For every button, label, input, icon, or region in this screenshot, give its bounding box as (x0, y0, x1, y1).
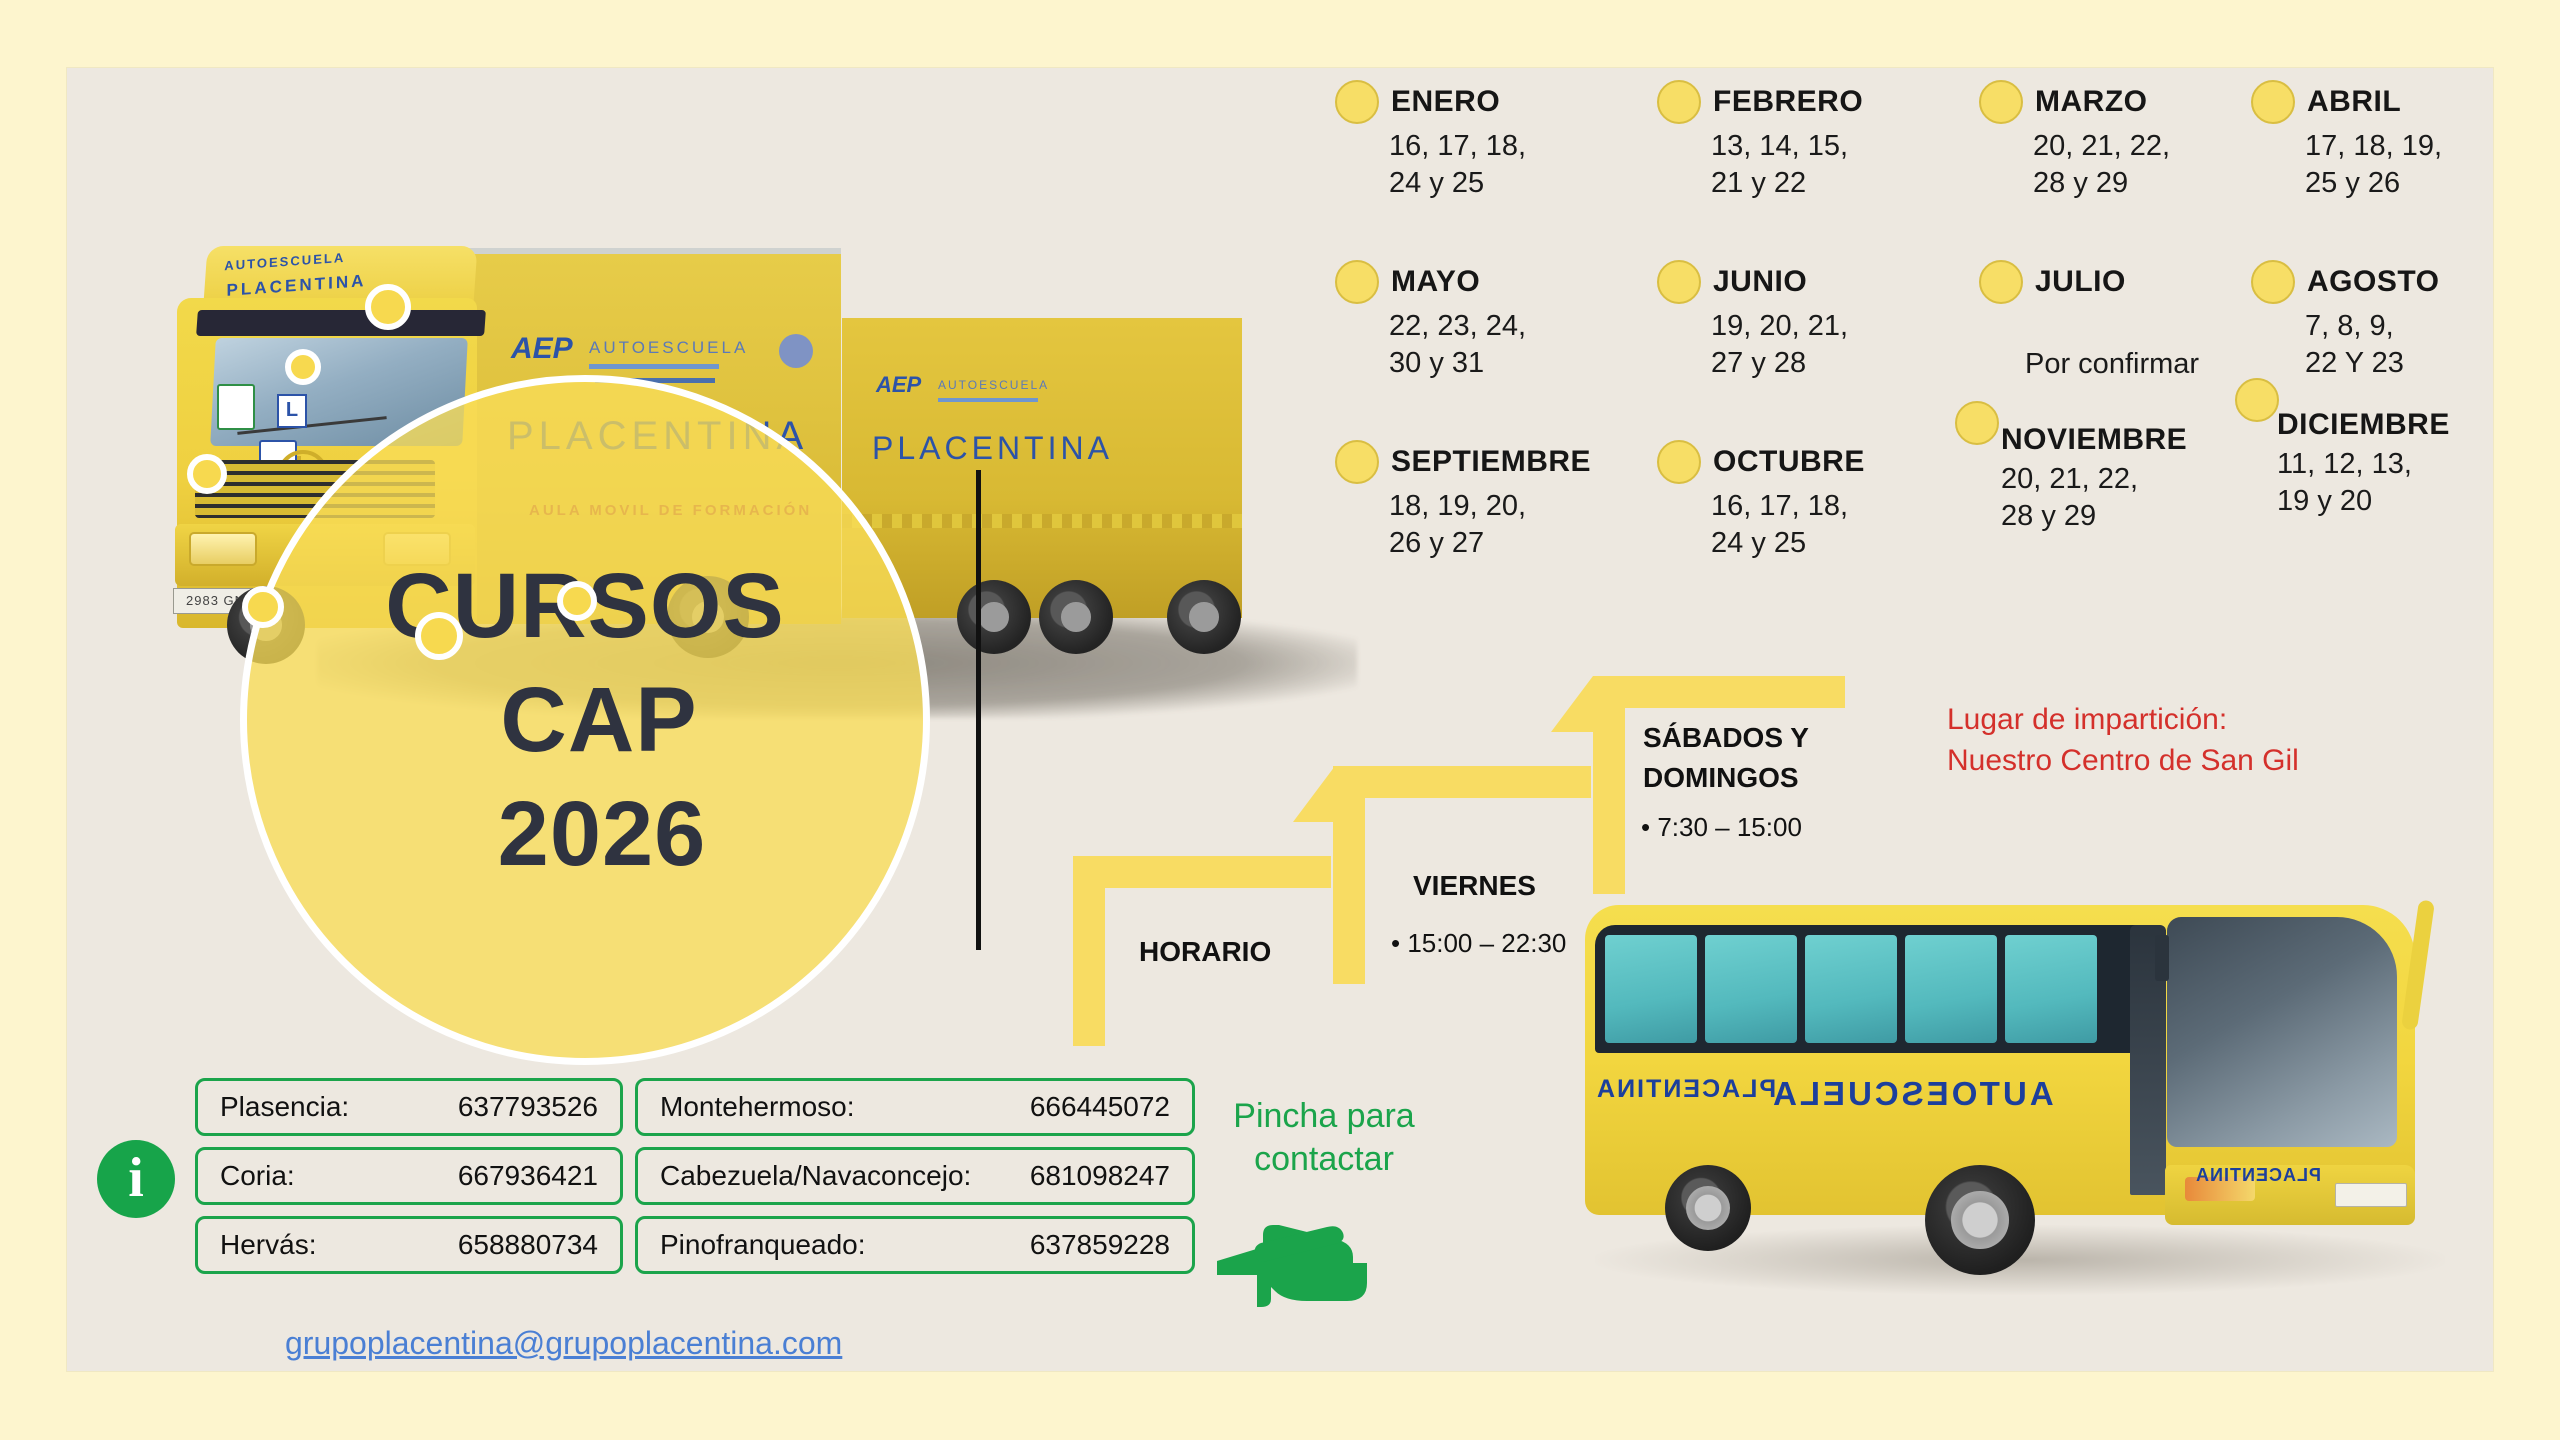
truck-brand-logo: AEP (511, 332, 573, 366)
month-days: 20, 21, 22,28 y 29 (2033, 128, 2249, 202)
month-name: NOVIEMBRE (2001, 423, 2187, 457)
schedule-viernes-label: VIERNES (1413, 870, 1536, 902)
month-days: 20, 21, 22,28 y 29 (2001, 461, 2225, 535)
schedule-finde-time: • 7:30 – 15:00 (1641, 812, 1802, 843)
month-bullet-icon (1335, 80, 1379, 124)
truck-autoescuela-text: AUTOESCUELA (589, 338, 748, 358)
pointing-hand-icon[interactable] (1215, 1213, 1385, 1303)
truck-accent-line-1 (589, 364, 719, 369)
bus-windshield (2167, 917, 2397, 1147)
month-marzo: MARZO 20, 21, 22,28 y 29 (1979, 80, 2249, 202)
contact-phone: 637793526 (458, 1091, 598, 1123)
month-name: ABRIL (2307, 85, 2401, 119)
month-julio: JULIO Por confirmar (1979, 260, 2249, 383)
schedule-finde-label-2: DOMINGOS (1643, 762, 1799, 794)
bus-autoescuela-text: AUTOESCUELA (1770, 1075, 2054, 1113)
month-febrero: FEBRERO 13, 14, 15,21 y 22 (1657, 80, 1927, 202)
contact-cta-text: Pincha para contactar (1199, 1095, 1449, 1180)
month-name: OCTUBRE (1713, 445, 1865, 479)
contact-label: Pinofranqueado: (660, 1229, 866, 1261)
poster-card: AEP AUTOESCUELA PLACENTINA AEP AUTOESCUE… (67, 68, 2493, 1371)
location-note: Lugar de impartición: Nuestro Centro de … (1947, 700, 2299, 781)
badge-line-year: 2026 (498, 777, 707, 891)
month-days: 22, 23, 24,30 y 31 (1389, 308, 1605, 382)
month-bullet-icon (2235, 378, 2279, 422)
truck-trailer-wheel-1 (957, 580, 1031, 654)
month-enero: ENERO 16, 17, 18,24 y 25 (1335, 80, 1605, 202)
contact-list: Plasencia: 637793526 Montehermoso: 66644… (195, 1078, 1195, 1285)
month-diciembre: DICIEMBRE 11, 12, 13,19 y 20 (2235, 408, 2505, 520)
contact-label: Coria: (220, 1160, 295, 1192)
contact-cabezuela-navaconcejo[interactable]: Cabezuela/Navaconcejo: 681098247 (635, 1147, 1195, 1205)
month-agosto: AGOSTO 7, 8, 9,22 Y 23 (2251, 260, 2521, 382)
contact-phone: 658880734 (458, 1229, 598, 1261)
bus-front-placentina-text: PLACENTINA (2195, 1165, 2321, 1186)
cta-line-1: Pincha para (1199, 1095, 1449, 1138)
bus-window-band (1595, 925, 2155, 1053)
badge-dot-5 (242, 586, 284, 628)
badge-dot-4 (187, 454, 227, 494)
schedule-finde-label-1: SÁBADOS Y (1643, 722, 1809, 754)
badge-dot-6 (415, 612, 463, 660)
contact-pinofranqueado[interactable]: Pinofranqueado: 637859228 (635, 1216, 1195, 1274)
schedule-viernes-time: • 15:00 – 22:30 (1391, 928, 1566, 959)
badge-line-cap: CAP (500, 663, 697, 777)
month-bullet-icon (2251, 260, 2295, 304)
month-name: FEBRERO (1713, 85, 1863, 119)
contact-phone: 667936421 (458, 1160, 598, 1192)
info-icon: i (97, 1140, 175, 1218)
month-bullet-icon (1979, 80, 2023, 124)
location-line-2: Nuestro Centro de San Gil (1947, 741, 2299, 782)
poster-root: AEP AUTOESCUELA PLACENTINA AEP AUTOESCUE… (0, 0, 2560, 1440)
month-name: SEPTIEMBRE (1391, 445, 1591, 479)
month-days: Por confirmar (2025, 346, 2249, 383)
bus-illustration: AUTOESCUELA PLACENTINA PLACENTINA (1555, 865, 2485, 1335)
contact-phone: 681098247 (1030, 1160, 1170, 1192)
truck-trailer-wheel-3 (1167, 580, 1241, 654)
schedule-title: HORARIO (1139, 936, 1271, 968)
contact-row: Plasencia: 637793526 Montehermoso: 66644… (195, 1078, 1195, 1136)
contact-coria[interactable]: Coria: 667936421 (195, 1147, 623, 1205)
truck-trailer-wheel-2 (1039, 580, 1113, 654)
cta-line-2: contactar (1199, 1138, 1449, 1181)
month-septiembre: SEPTIEMBRE 18, 19, 20,26 y 27 (1335, 440, 1605, 562)
contact-label: Plasencia: (220, 1091, 349, 1123)
month-name: MARZO (2035, 85, 2147, 119)
bus-mirror-left-icon (2155, 935, 2169, 981)
month-mayo: MAYO 22, 23, 24,30 y 31 (1335, 260, 1605, 382)
month-days: 16, 17, 18,24 y 25 (1389, 128, 1605, 202)
month-bullet-icon (1657, 440, 1701, 484)
cursos-cap-title: CURSOS CAP 2026 (240, 375, 930, 1065)
month-name: JULIO (2035, 265, 2126, 299)
month-days: 16, 17, 18,24 y 25 (1711, 488, 1927, 562)
badge-dot-3 (557, 581, 597, 621)
contact-row: Hervás: 658880734 Pinofranqueado: 637859… (195, 1216, 1195, 1274)
vertical-divider (976, 470, 981, 950)
truck-roof-line-1: AUTOESCUELA (224, 250, 345, 273)
month-name: MAYO (1391, 265, 1480, 299)
location-line-1: Lugar de impartición: (1947, 700, 2299, 741)
month-bullet-icon (1657, 80, 1701, 124)
month-days: 18, 19, 20,26 y 27 (1389, 488, 1605, 562)
month-days: 11, 12, 13,19 y 20 (2277, 446, 2505, 520)
truck-side-emblem (779, 334, 813, 368)
month-days: 17, 18, 19,25 y 26 (2305, 128, 2521, 202)
month-days: 13, 14, 15,21 y 22 (1711, 128, 1927, 202)
badge-dot-1 (365, 284, 411, 330)
month-bullet-icon (1335, 440, 1379, 484)
months-grid: ENERO 16, 17, 18,24 y 25 FEBRERO 13, 14,… (1335, 80, 2455, 600)
month-name: ENERO (1391, 85, 1500, 119)
email-link[interactable]: grupoplacentina@grupoplacentina.com (285, 1325, 842, 1362)
month-name: JUNIO (1713, 265, 1807, 299)
bus-front-wheel (1925, 1165, 2035, 1275)
contact-phone: 637859228 (1030, 1229, 1170, 1261)
bus-placentina-text: PLACENTINA (1595, 1075, 1776, 1104)
month-name: AGOSTO (2307, 265, 2439, 299)
month-junio: JUNIO 19, 20, 21,27 y 28 (1657, 260, 1927, 382)
contact-row: Coria: 667936421 Cabezuela/Navaconcejo: … (195, 1147, 1195, 1205)
contact-label: Montehermoso: (660, 1091, 855, 1123)
contact-plasencia[interactable]: Plasencia: 637793526 (195, 1078, 623, 1136)
month-bullet-icon (1657, 260, 1701, 304)
contact-hervas[interactable]: Hervás: 658880734 (195, 1216, 623, 1274)
month-octubre: OCTUBRE 16, 17, 18,24 y 25 (1657, 440, 1927, 562)
truck-roof-line-2: PLACENTINA (227, 271, 367, 301)
month-noviembre: NOVIEMBRE 20, 21, 22,28 y 29 (1955, 423, 2225, 535)
month-name: DICIEMBRE (2277, 408, 2450, 442)
contact-phone: 666445072 (1030, 1091, 1170, 1123)
month-abril: ABRIL 17, 18, 19,25 y 26 (2251, 80, 2521, 202)
truck-trailer-accent-line (938, 398, 1038, 402)
month-days: 19, 20, 21,27 y 28 (1711, 308, 1927, 382)
contact-label: Cabezuela/Navaconcejo: (660, 1160, 971, 1192)
month-bullet-icon (2251, 80, 2295, 124)
month-days: 7, 8, 9,22 Y 23 (2305, 308, 2521, 382)
month-bullet-icon (1335, 260, 1379, 304)
contact-montehermoso[interactable]: Montehermoso: 666445072 (635, 1078, 1195, 1136)
bus-rear-wheel (1665, 1165, 1751, 1251)
badge-dot-2 (285, 349, 321, 385)
truck-cab-visor (196, 310, 486, 336)
bus-licence-plate (2335, 1183, 2407, 1207)
truck-trailer-autoescuela: AUTOESCUELA (938, 378, 1049, 392)
month-bullet-icon (1979, 260, 2023, 304)
contact-label: Hervás: (220, 1229, 316, 1261)
month-bullet-icon (1955, 401, 1999, 445)
